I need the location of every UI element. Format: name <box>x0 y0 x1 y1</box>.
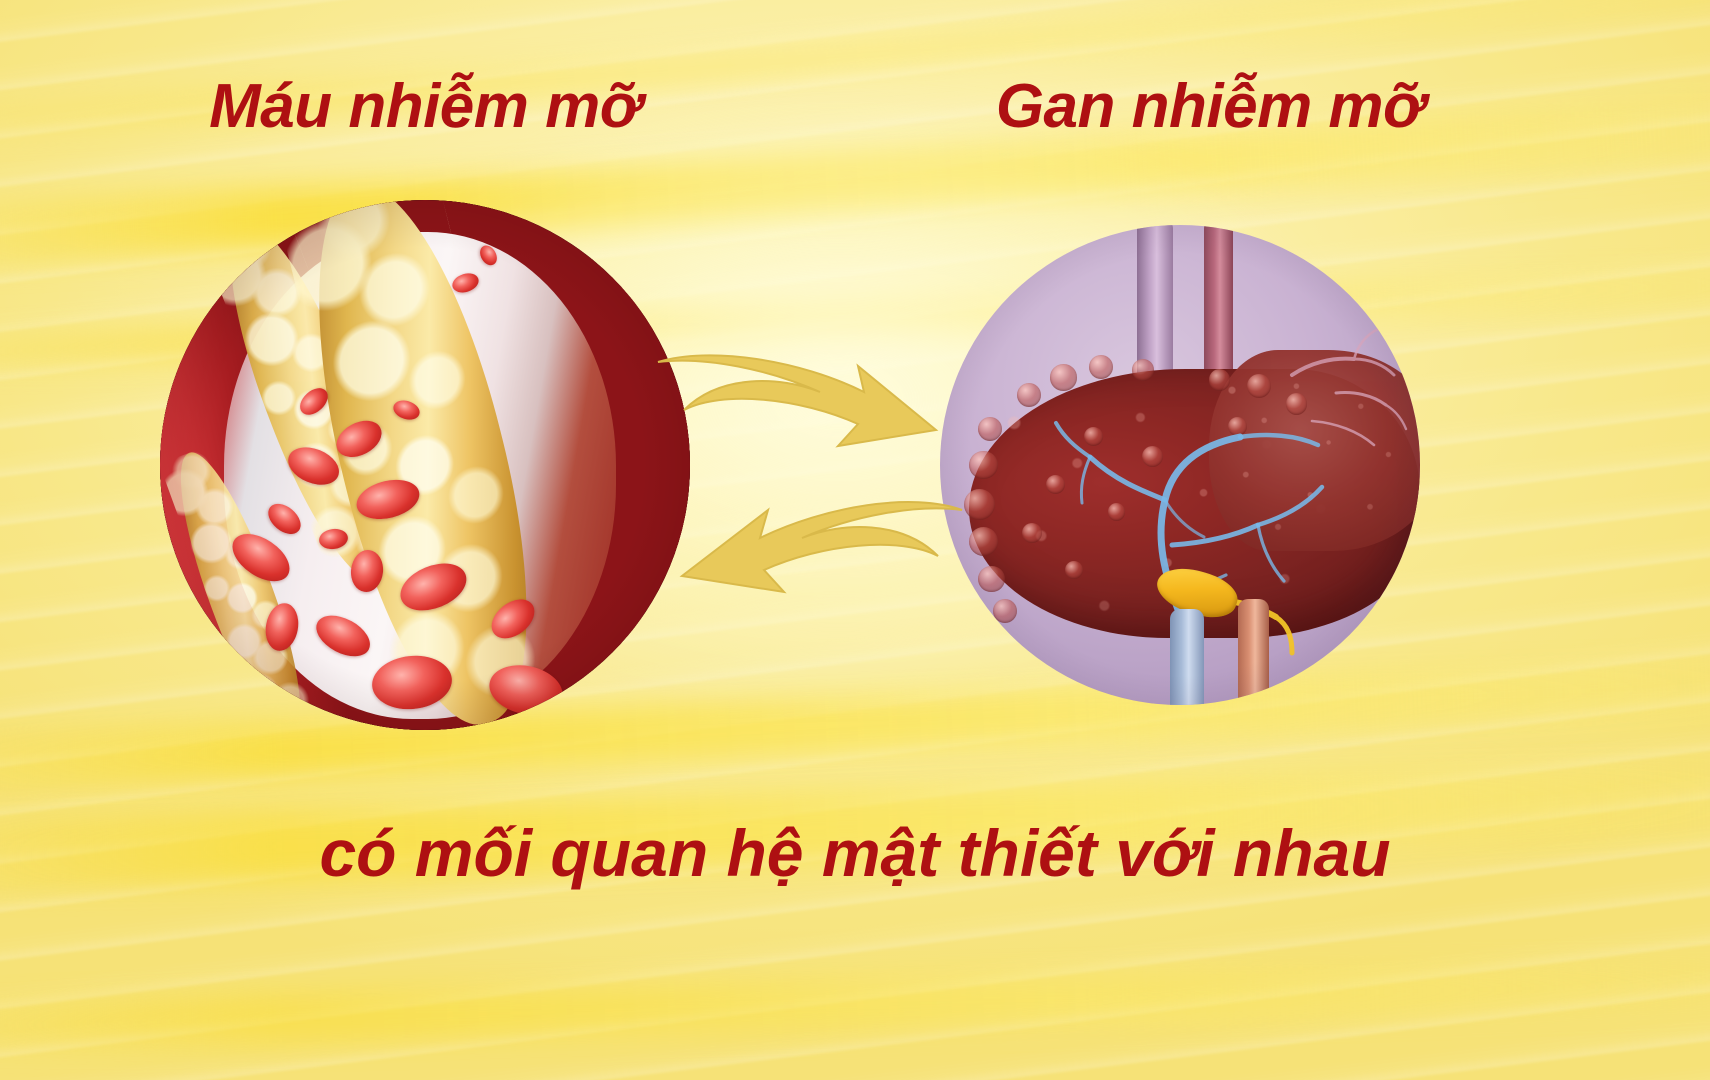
left-title: Máu nhiễm mỡ <box>0 76 850 138</box>
infographic-canvas: Máu nhiễm mỡ Gan nhiễm mỡ <box>0 0 1710 1080</box>
fatty-liver-figure <box>940 225 1420 705</box>
bidirectional-arrows <box>650 320 970 620</box>
arrow-right-curved-icon <box>658 355 936 446</box>
artery-cholesterol-figure <box>160 200 690 730</box>
artery-vignette <box>160 200 690 730</box>
arrow-left-curved-icon <box>682 502 962 592</box>
liver-vignette <box>940 225 1420 705</box>
caption-text: có mối quan hệ mật thiết với nhau <box>0 820 1710 886</box>
right-title: Gan nhiễm mỡ <box>860 76 1560 138</box>
